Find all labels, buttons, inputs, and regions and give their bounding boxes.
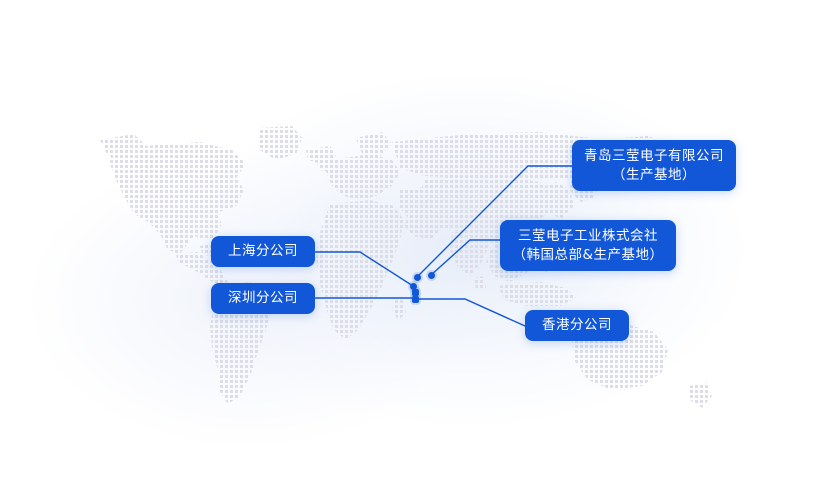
qingdao-label-line2: （生产基地） [612,166,696,184]
shenzhen-marker[interactable] [412,289,419,296]
shanghai-label[interactable]: 上海分公司 [211,236,315,267]
korea-label-line2: （韩国总部&生产基地） [512,246,663,264]
hongkong-marker[interactable] [412,296,419,303]
shanghai-label-line1: 上海分公司 [228,242,298,260]
korea-marker[interactable] [428,272,435,279]
qingdao-label[interactable]: 青岛三莹电子有限公司 （生产基地） [572,140,736,191]
korea-hq-label[interactable]: 三莹电子工业株式会社 （韩国总部&生产基地） [500,220,676,271]
qingdao-marker[interactable] [414,274,421,281]
qingdao-label-line1: 青岛三莹电子有限公司 [584,147,724,165]
hongkong-label-line1: 香港分公司 [542,316,612,334]
world-map [0,0,824,480]
hongkong-label[interactable]: 香港分公司 [525,310,629,341]
shenzhen-label-line1: 深圳分公司 [228,289,298,307]
korea-label-line1: 三莹电子工业株式会社 [518,227,658,245]
map-infographic: 青岛三莹电子有限公司 （生产基地） 三莹电子工业株式会社 （韩国总部&生产基地）… [0,0,824,480]
shenzhen-label[interactable]: 深圳分公司 [211,283,315,314]
